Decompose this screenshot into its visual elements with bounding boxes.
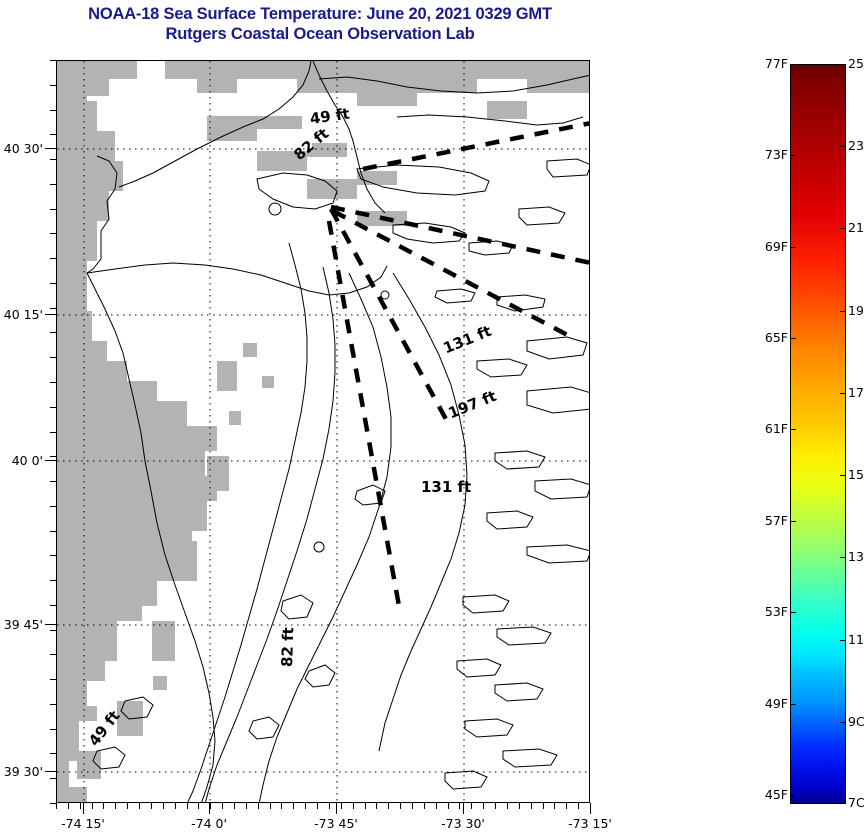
y-minor-tick [50,555,56,556]
y-axis-tick-label: 39 45' [0,617,43,632]
x-minor-tick [115,803,116,809]
y-minor-tick [50,679,56,680]
y-major-tick [45,460,56,461]
colorbar-tick-celsius [840,557,846,558]
colorbar-tick-fahrenheit [790,429,796,430]
colorbar-label-fahrenheit: 49F [765,696,788,711]
colorbar-label-celsius: 13C [848,549,864,564]
y-minor-tick [50,506,56,507]
y-minor-tick [50,753,56,754]
x-minor-tick [554,803,555,809]
x-minor-tick [270,803,271,809]
colorbar-tick-celsius [840,803,846,804]
colorbar-label-fahrenheit: 65F [765,330,788,345]
land-patch-east1 [487,101,527,119]
y-minor-tick [50,803,56,804]
y-minor-tick [50,159,56,160]
colorbar-tick-celsius [840,640,846,641]
x-minor-tick [531,803,532,809]
x-minor-tick [151,803,152,809]
land-patch-coast3 [175,541,197,581]
x-minor-tick [175,803,176,809]
y-minor-tick [50,258,56,259]
x-minor-tick [471,803,472,809]
x-major-tick [83,803,84,814]
y-minor-tick [50,729,56,730]
x-major-tick [590,803,591,814]
land-fleck-3 [229,411,241,425]
x-minor-tick [483,803,484,809]
land-fleck-4 [153,676,167,690]
colorbar-tick-fahrenheit [790,247,796,248]
colorbar-label-fahrenheit: 45F [765,787,788,802]
y-minor-tick [50,432,56,433]
y-minor-tick [50,456,56,457]
x-axis-tick-label: -74 0' [179,816,239,831]
y-minor-tick [50,407,56,408]
colorbar-label-fahrenheit: 73F [765,147,788,162]
y-minor-tick [50,654,56,655]
land-patch-coast7 [57,787,87,803]
y-axis-tick-label: 40 0' [0,453,43,468]
colorbar-tick-celsius [840,475,846,476]
x-minor-tick [198,803,199,809]
x-minor-tick [376,803,377,809]
x-minor-tick [56,803,57,809]
colorbar-label-celsius: 7C [848,795,864,810]
x-minor-tick [246,803,247,809]
x-minor-tick [80,803,81,809]
colorbar-tick-celsius [840,228,846,229]
y-minor-tick [50,134,56,135]
x-major-tick [209,803,210,814]
colorbar-label-celsius: 11C [848,632,864,647]
colorbar-label-celsius: 9C [848,714,864,729]
colorbar-tick-fahrenheit [790,338,796,339]
colorbar-tick-celsius [840,393,846,394]
colorbar-label-celsius: 15C [848,467,864,482]
y-minor-tick [50,382,56,383]
y-minor-tick [50,233,56,234]
colorbar-gradient [790,64,846,804]
colorbar-label-fahrenheit: 61F [765,421,788,436]
x-axis-tick-label: -73 15' [560,816,620,831]
colorbar-label-fahrenheit: 77F [765,56,788,71]
y-minor-tick [50,605,56,606]
x-minor-tick [459,803,460,809]
y-major-tick [45,314,56,315]
y-minor-tick [50,357,56,358]
x-axis-tick-label: -73 30' [433,816,493,831]
y-major-tick [45,624,56,625]
y-axis-tick-label: 40 30' [0,141,43,156]
y-major-tick [45,771,56,772]
y-major-tick [45,148,56,149]
y-minor-tick [50,630,56,631]
colorbar-tick-celsius [840,722,846,723]
x-minor-tick [187,803,188,809]
depth-contour-label: 131 ft [421,478,471,496]
x-minor-tick [92,803,93,809]
colorbar-tick-fahrenheit [790,155,796,156]
colorbar-label-celsius: 25C [848,56,864,71]
x-minor-tick [424,803,425,809]
title-line-1: NOAA-18 Sea Surface Temperature: June 20… [0,4,640,24]
x-minor-tick [448,803,449,809]
y-minor-tick [50,580,56,581]
y-minor-tick [50,184,56,185]
x-minor-tick [163,803,164,809]
x-minor-tick [365,803,366,809]
x-minor-tick [543,803,544,809]
x-minor-tick [68,803,69,809]
y-minor-tick [50,110,56,111]
colorbar-tick-celsius [840,311,846,312]
x-minor-tick [436,803,437,809]
colorbar-label-celsius: 23C [848,138,864,153]
colorbar-tick-celsius [840,146,846,147]
x-minor-tick [258,803,259,809]
x-minor-tick [495,803,496,809]
colorbar-label-fahrenheit: 57F [765,513,788,528]
y-minor-tick [50,85,56,86]
colorbar[interactable]: 77F73F69F65F61F57F53F49F45F 25C23C21C19C… [790,64,846,804]
colorbar-tick-fahrenheit [790,795,796,796]
colorbar-label-celsius: 19C [848,303,864,318]
x-minor-tick [293,803,294,809]
x-minor-tick [400,803,401,809]
x-major-tick [336,803,337,814]
colorbar-label-celsius: 17C [848,385,864,400]
x-major-tick [463,803,464,814]
colorbar-tick-celsius [840,64,846,65]
colorbar-tick-fahrenheit [790,612,796,613]
x-minor-tick [578,803,579,809]
colorbar-tick-fahrenheit [790,521,796,522]
y-minor-tick [50,704,56,705]
y-minor-tick [50,332,56,333]
colorbar-tick-fahrenheit [790,64,796,65]
x-minor-tick [127,803,128,809]
land-fleck-1 [243,343,257,357]
depth-contour-label: 82 ft [278,627,297,667]
y-axis-tick-label: 40 15' [0,307,43,322]
x-axis-tick-label: -73 45' [306,816,366,831]
y-minor-tick [50,531,56,532]
y-minor-tick [50,308,56,309]
colorbar-label-fahrenheit: 53F [765,604,788,619]
x-minor-tick [305,803,306,809]
x-minor-tick [341,803,342,809]
x-minor-tick [566,803,567,809]
y-minor-tick [50,60,56,61]
x-minor-tick [281,803,282,809]
x-minor-tick [388,803,389,809]
x-minor-tick [317,803,318,809]
y-minor-tick [50,209,56,210]
x-minor-tick [329,803,330,809]
land-patch-coast1 [217,361,237,391]
sst-map-figure: NOAA-18 Sea Surface Temperature: June 20… [0,0,864,832]
title-line-2: Rutgers Coastal Ocean Observation Lab [0,24,640,44]
x-minor-tick [412,803,413,809]
colorbar-tick-fahrenheit [790,704,796,705]
x-minor-tick [519,803,520,809]
y-minor-tick [50,481,56,482]
colorbar-label-celsius: 21C [848,220,864,235]
x-minor-tick [139,803,140,809]
y-minor-tick [50,283,56,284]
map-graphics [57,61,590,803]
map-plot-area[interactable] [56,60,590,803]
x-minor-tick [103,803,104,809]
y-minor-tick [50,778,56,779]
land-fleck-2 [262,376,274,388]
x-minor-tick [507,803,508,809]
x-minor-tick [353,803,354,809]
x-minor-tick [222,803,223,809]
x-axis-tick-label: -74 15' [53,816,113,831]
x-minor-tick [234,803,235,809]
land-patch-coast4 [152,621,175,661]
x-minor-tick [210,803,211,809]
y-axis-tick-label: 39 30' [0,764,43,779]
figure-title: NOAA-18 Sea Surface Temperature: June 20… [0,4,640,44]
colorbar-label-fahrenheit: 69F [765,239,788,254]
